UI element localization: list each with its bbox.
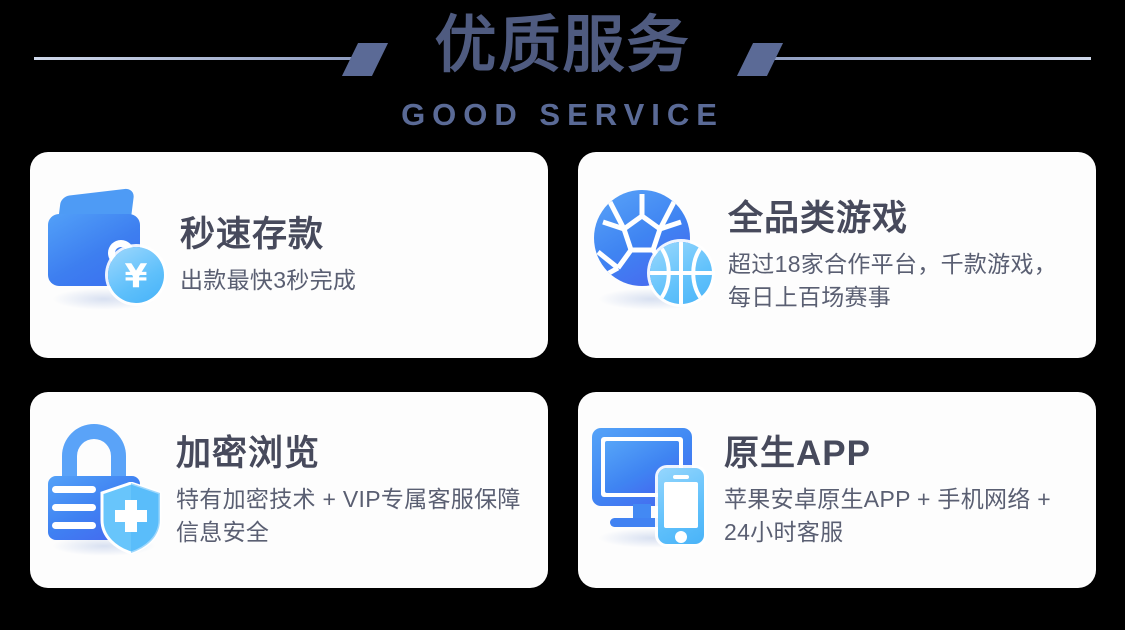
page-title: 优质服务 [0,8,1125,84]
card-title: 原生APP [724,432,1078,476]
smartphone-icon [658,468,704,544]
card-text-block: 秒速存款 出款最快3秒完成 [176,213,548,297]
feature-card-encryption[interactable]: 加密浏览 特有加密技术 + VIP专属客服保障信息安全 [30,392,548,588]
soccer-basketball-icon [578,152,724,358]
yen-symbol: ¥ [108,247,164,303]
card-text-block: 原生APP 苹果安卓原生APP + 手机网络 + 24小时客服 [724,432,1096,549]
lock-shield-icon [30,392,176,588]
card-subtitle: 特有加密技术 + VIP专属客服保障信息安全 [176,483,530,549]
card-title: 秒速存款 [180,213,530,257]
wallet-yen-icon: ¥ [30,152,176,358]
feature-card-games[interactable]: 全品类游戏 超过18家合作平台，千款游戏，每日上百场赛事 [578,152,1096,358]
card-title: 加密浏览 [176,432,530,476]
card-text-block: 全品类游戏 超过18家合作平台，千款游戏，每日上百场赛事 [724,197,1096,314]
feature-card-grid: ¥ 秒速存款 出款最快3秒完成 [0,146,1125,630]
monitor-phone-icon [578,392,724,588]
page-subtitle: GOOD SERVICE [0,96,1125,134]
basketball-icon [650,242,712,304]
card-subtitle: 苹果安卓原生APP + 手机网络 + 24小时客服 [724,483,1078,549]
page-header: 优质服务 GOOD SERVICE [0,0,1125,146]
feature-card-deposit[interactable]: ¥ 秒速存款 出款最快3秒完成 [30,152,548,358]
feature-card-native-app[interactable]: 原生APP 苹果安卓原生APP + 手机网络 + 24小时客服 [578,392,1096,588]
yen-coin-icon: ¥ [108,247,164,303]
card-text-block: 加密浏览 特有加密技术 + VIP专属客服保障信息安全 [176,432,548,549]
card-subtitle: 出款最快3秒完成 [180,264,530,297]
card-subtitle: 超过18家合作平台，千款游戏，每日上百场赛事 [728,248,1078,314]
shield-cross-icon [100,482,162,554]
card-title: 全品类游戏 [728,197,1078,241]
